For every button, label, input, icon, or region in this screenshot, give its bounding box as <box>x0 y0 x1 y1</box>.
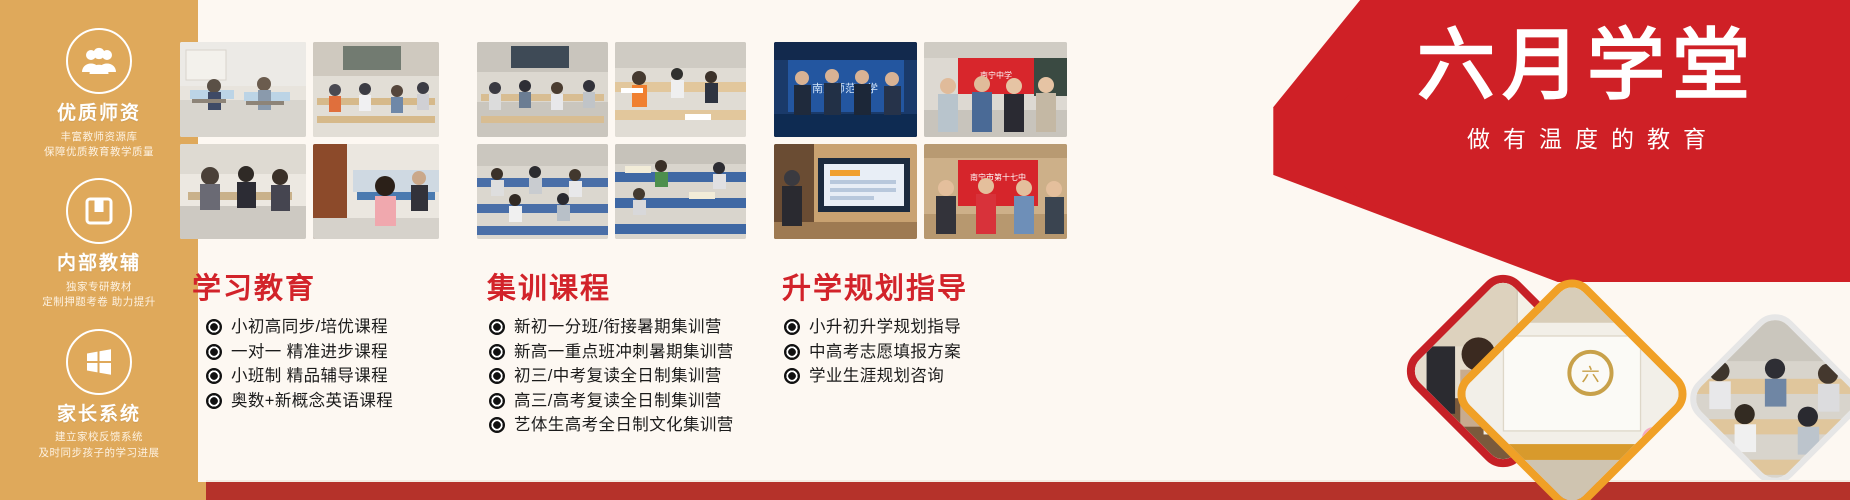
course-columns: 学习教育 小初高同步/培优课程 一对一 精准进步课程 小班制 精品辅导课程 奥数… <box>206 0 1084 442</box>
list-item[interactable]: 小初高同步/培优课程 <box>206 319 465 336</box>
list-item[interactable]: 初三/中考复读全日制集训营 <box>489 368 762 385</box>
brand-title: 六月学堂 <box>1352 26 1822 106</box>
photo-presentation-smartboard <box>774 144 917 239</box>
photo-student-at-classroom-door <box>313 144 439 239</box>
bullet-icon <box>206 368 222 384</box>
list-item-label: 新高一重点班冲刺暑期集训营 <box>514 344 734 361</box>
photo-grid <box>477 42 762 239</box>
svg-text:六: 六 <box>1581 364 1599 385</box>
feature-title: 家长系统 <box>57 404 141 426</box>
course-column-study-education: 学习教育 小初高同步/培优课程 一对一 精准进步课程 小班制 精品辅导课程 奥数… <box>180 0 465 442</box>
banner-rounded-nose <box>1328 78 1478 208</box>
photo-teacher-lecturing-class <box>313 42 439 137</box>
photo-award-ceremony-red-backdrop: 南宁市第十七中 <box>924 144 1067 239</box>
section-title: 升学规划指导 <box>782 265 1084 307</box>
feature-desc: 丰富教师资源库 保障优质教育教学质量 <box>44 130 154 160</box>
course-column-admission-planning: 南京师范大学 <box>774 0 1084 442</box>
course-list: 新初一分班/衔接暑期集训营 新高一重点班冲刺暑期集训营 初三/中考复读全日制集训… <box>489 319 762 434</box>
photo-crowded-study-room <box>477 144 608 239</box>
bullet-icon <box>489 368 505 384</box>
list-item[interactable]: 小班制 精品辅导课程 <box>206 368 465 385</box>
photo-lecture-hall-back-view <box>477 42 608 137</box>
course-list: 小升初升学规划指导 中高考志愿填报方案 学业生涯规划咨询 <box>784 319 1084 385</box>
svg-text:南宁市第十七中: 南宁市第十七中 <box>970 172 1026 182</box>
list-item-label: 小初高同步/培优课程 <box>231 319 388 336</box>
list-item-label: 高三/高考复读全日制集训营 <box>514 393 722 410</box>
feature-item-teachers: 优质师资 丰富教师资源库 保障优质教育教学质量 <box>0 28 198 160</box>
bullet-icon <box>489 393 505 409</box>
photo-classroom-rows-overhead <box>615 144 746 239</box>
promo-poster: 优质师资 丰富教师资源库 保障优质教育教学质量 内部教辅 独家专研教材 定制押题… <box>0 0 1850 500</box>
banner-background-shape <box>1060 0 1850 282</box>
feature-desc-line: 保障优质教育教学质量 <box>44 145 154 160</box>
course-list: 小初高同步/培优课程 一对一 精准进步课程 小班制 精品辅导课程 奥数+新概念英… <box>206 319 465 409</box>
list-item[interactable]: 小升初升学规划指导 <box>784 319 1084 336</box>
list-item-label: 初三/中考复读全日制集训营 <box>514 368 722 385</box>
features-sidebar: 优质师资 丰富教师资源库 保障优质教育教学质量 内部教辅 独家专研教材 定制押题… <box>0 0 198 500</box>
section-title: 集训课程 <box>487 265 762 307</box>
feature-item-parent-system: 家长系统 建立家校反馈系统 及时同步孩子的学习进展 <box>0 329 198 461</box>
photo-students-taking-notes <box>615 42 746 137</box>
bullet-icon <box>206 344 222 360</box>
list-item-label: 中高考志愿填报方案 <box>809 344 961 361</box>
bullet-icon <box>206 319 222 335</box>
photo-tutor-one-on-one-session <box>180 144 306 239</box>
diamond-photo-cluster: 六 <box>1372 256 1842 486</box>
windows-grid-icon <box>66 329 132 395</box>
list-item[interactable]: 新高一重点班冲刺暑期集训营 <box>489 344 762 361</box>
bottom-accent-bar-left <box>0 482 206 500</box>
list-item[interactable]: 中高考志愿填报方案 <box>784 344 1084 361</box>
feature-title: 优质师资 <box>57 103 141 125</box>
photo-grid <box>180 42 465 239</box>
photo-group-photo-red-banner: 南宁中学 <box>924 42 1067 137</box>
bullet-icon <box>489 319 505 335</box>
list-item[interactable]: 奥数+新概念英语课程 <box>206 393 465 410</box>
diamond-lecture-audience-photo <box>1680 304 1850 494</box>
feature-desc-line: 定制押题考卷 助力提升 <box>42 295 155 310</box>
feature-desc-line: 独家专研教材 <box>42 280 155 295</box>
brand-subtitle: 做有温度的教育 <box>1352 120 1822 154</box>
feature-item-materials: 内部教辅 独家专研教材 定制押题考卷 助力提升 <box>0 178 198 310</box>
list-item-label: 奥数+新概念英语课程 <box>231 393 393 410</box>
people-group-icon <box>66 28 132 94</box>
list-item[interactable]: 艺体生高考全日制文化集训营 <box>489 417 762 434</box>
photo-grid: 南京师范大学 <box>774 42 1084 239</box>
main-content: 学习教育 小初高同步/培优课程 一对一 精准进步课程 小班制 精品辅导课程 奥数… <box>206 0 1850 500</box>
list-item-label: 学业生涯规划咨询 <box>809 368 944 385</box>
list-item-label: 小升初升学规划指导 <box>809 319 961 336</box>
bullet-icon <box>489 344 505 360</box>
list-item-label: 新初一分班/衔接暑期集训营 <box>514 319 722 336</box>
brand-banner: 六月学堂 做有温度的教育 <box>1060 0 1850 282</box>
list-item[interactable]: 新初一分班/衔接暑期集训营 <box>489 319 762 336</box>
book-icon <box>66 178 132 244</box>
list-item-label: 艺体生高考全日制文化集训营 <box>514 417 734 434</box>
feature-desc-line: 丰富教师资源库 <box>44 130 154 145</box>
bullet-icon <box>206 393 222 409</box>
photo-classroom-students-desks <box>180 42 306 137</box>
list-item[interactable]: 一对一 精准进步课程 <box>206 344 465 361</box>
photo-speakers-on-stage-blue-screen: 南京师范大学 <box>774 42 917 137</box>
bullet-icon <box>784 319 800 335</box>
course-column-intensive-courses: 集训课程 新初一分班/衔接暑期集训营 新高一重点班冲刺暑期集训营 初三/中考复读… <box>477 0 762 442</box>
bullet-icon <box>489 417 505 433</box>
feature-title: 内部教辅 <box>57 253 141 275</box>
banner-text-block: 六月学堂 做有温度的教育 <box>1352 26 1822 154</box>
list-item-label: 一对一 精准进步课程 <box>231 344 388 361</box>
list-item-label: 小班制 精品辅导课程 <box>231 368 388 385</box>
feature-desc: 建立家校反馈系统 及时同步孩子的学习进展 <box>39 430 160 460</box>
feature-desc: 独家专研教材 定制押题考卷 助力提升 <box>42 280 155 310</box>
bullet-icon <box>784 368 800 384</box>
list-item[interactable]: 学业生涯规划咨询 <box>784 368 1084 385</box>
feature-desc-line: 建立家校反馈系统 <box>39 430 160 445</box>
bullet-icon <box>784 344 800 360</box>
feature-desc-line: 及时同步孩子的学习进展 <box>39 446 160 461</box>
section-title: 学习教育 <box>192 265 465 307</box>
list-item[interactable]: 高三/高考复读全日制集训营 <box>489 393 762 410</box>
